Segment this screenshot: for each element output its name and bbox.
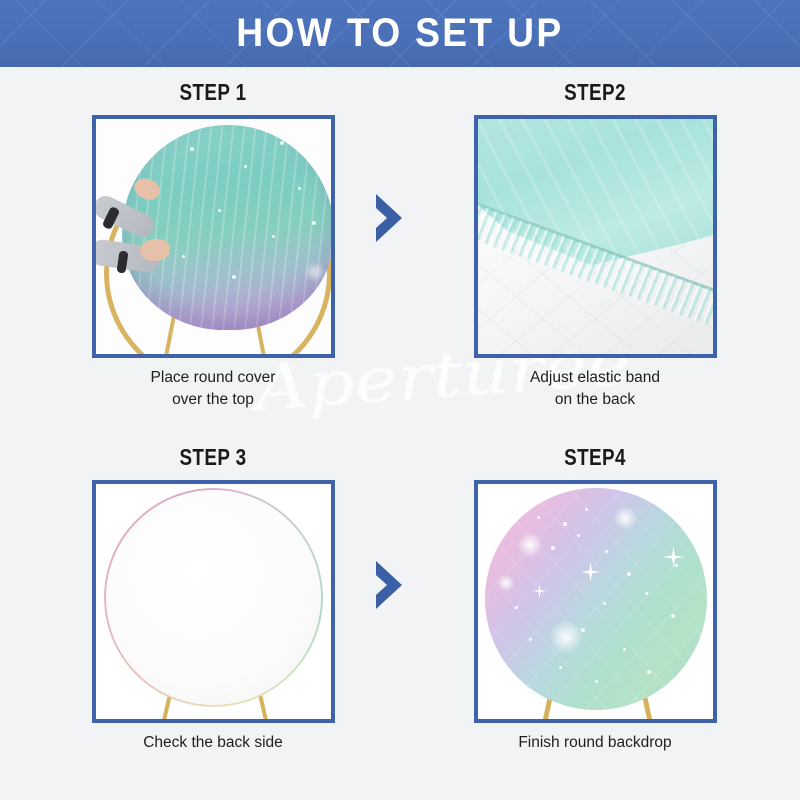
- sparkle-glow: [613, 506, 637, 530]
- step-image-1: [96, 119, 331, 354]
- sparkle-dot: [244, 165, 247, 168]
- step-image-3: [96, 484, 331, 719]
- sparkle-dot: [623, 648, 626, 651]
- sparkle-dot: [232, 275, 236, 279]
- step-card-3: STEP 3 Check the back side: [68, 444, 358, 754]
- step-label-3: STEP 3: [94, 444, 332, 471]
- sparkle-dot: [515, 606, 518, 609]
- white-back-side-disc: [106, 490, 321, 705]
- step-image-4: [478, 484, 713, 719]
- step-card-4: STEP4: [450, 444, 740, 754]
- sparkle-dot: [675, 564, 678, 567]
- step-caption-3: Check the back side: [68, 732, 358, 754]
- sparkle-dot: [312, 221, 316, 225]
- sparkle-dot: [645, 592, 648, 595]
- sparkle-dot: [182, 255, 185, 258]
- steps-grid: STEP 1: [0, 67, 800, 800]
- sparkle-dot: [585, 508, 588, 511]
- sparkle-dot: [605, 550, 608, 553]
- step-label-4: STEP4: [476, 444, 714, 471]
- sparkle-dot: [581, 628, 585, 632]
- step-caption-2: Adjust elastic band on the back: [450, 367, 740, 411]
- step-label-2: STEP2: [476, 79, 714, 106]
- step-image-frame-1: [92, 115, 335, 358]
- sparkle-dot: [218, 209, 221, 212]
- sparkle-dot: [627, 572, 631, 576]
- step-label-1: STEP 1: [94, 79, 332, 106]
- finished-backdrop-disc: [485, 488, 707, 710]
- sparkle-glow: [308, 265, 322, 279]
- sparkle-star: [663, 546, 685, 568]
- page-header: HOW TO SET UP: [0, 0, 800, 67]
- step-image-2: [478, 119, 713, 354]
- sparkle-dot: [559, 666, 562, 669]
- chevron-right-icon: [372, 192, 406, 244]
- sparkle-dot: [551, 546, 555, 550]
- step-image-frame-4: [474, 480, 717, 723]
- sparkle-dot: [190, 147, 194, 151]
- sparkle-dot: [603, 602, 606, 605]
- sparkle-dot: [280, 141, 284, 145]
- step-image-frame-2: [474, 115, 717, 358]
- sparkle-dot: [671, 614, 675, 618]
- step-card-1: STEP 1: [68, 79, 358, 411]
- step-caption-4: Finish round backdrop: [450, 732, 740, 754]
- chevron-right-icon: [372, 559, 406, 611]
- step-caption-1: Place round cover over the top: [68, 367, 358, 411]
- sparkle-glow: [497, 574, 515, 592]
- step-card-2: STEP2 Adjust elastic band on the back: [450, 79, 740, 411]
- sparkle-dot: [595, 680, 598, 683]
- sparkle-dot: [529, 638, 532, 641]
- step-image-frame-3: [92, 480, 335, 723]
- sparkle-dot: [647, 670, 651, 674]
- sparkle-glow: [517, 532, 543, 558]
- sparkle-dot: [272, 235, 275, 238]
- sparkle-star: [581, 562, 601, 582]
- page-title: HOW TO SET UP: [236, 11, 563, 56]
- sparkle-star: [533, 584, 547, 598]
- sparkle-dot: [563, 522, 567, 526]
- sparkle-dot: [577, 534, 580, 537]
- sparkle-dot: [537, 516, 540, 519]
- sparkle-glow: [549, 620, 583, 654]
- sparkle-dot: [298, 187, 301, 190]
